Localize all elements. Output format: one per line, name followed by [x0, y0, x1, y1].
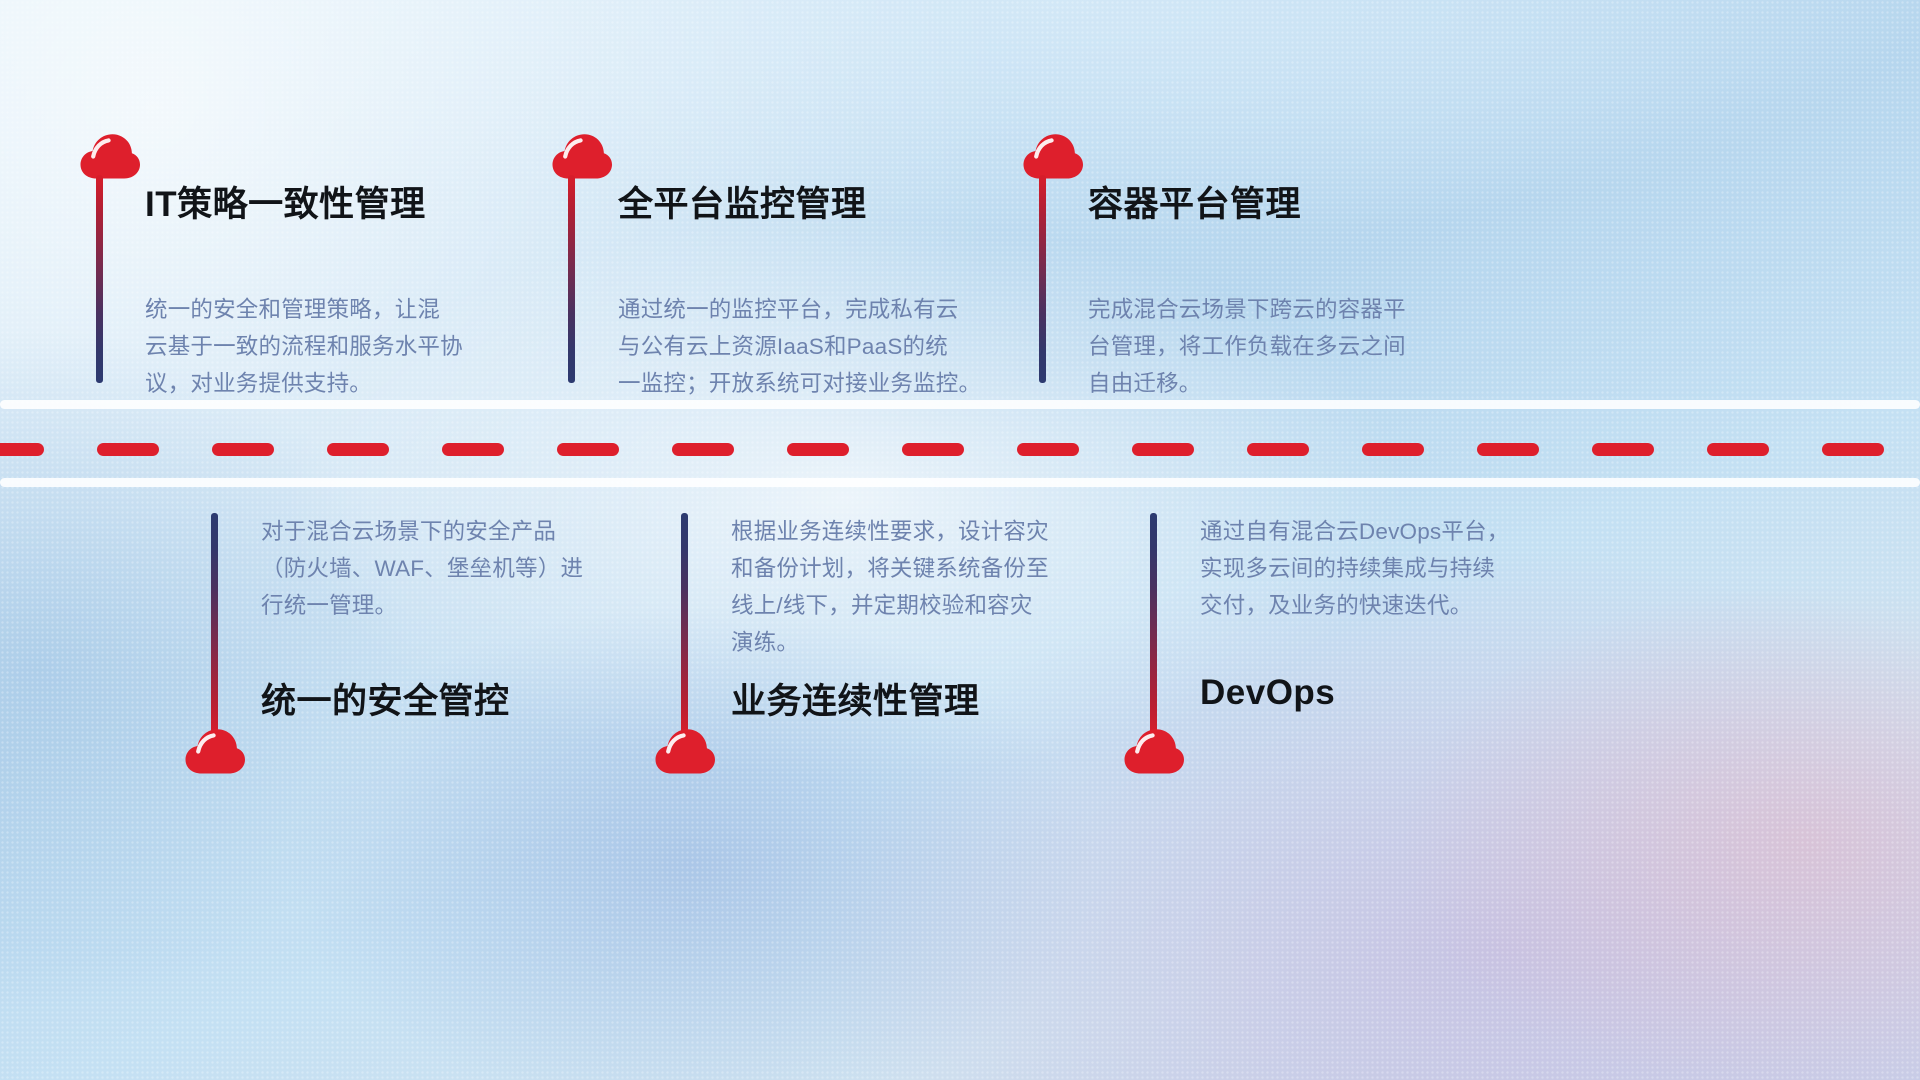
cloud-pin-icon: [654, 728, 716, 774]
road-dash-segment: [787, 443, 849, 456]
road-dash-segment: [672, 443, 734, 456]
feature-title: DevOps: [1200, 673, 1335, 713]
pin-stem: [1150, 513, 1157, 735]
feature-title: IT策略一致性管理: [145, 176, 426, 227]
cloud-pin-icon: [1022, 133, 1084, 179]
road-dash-segment: [1247, 443, 1309, 456]
road-dash-segment: [212, 443, 274, 456]
road-center-dashes: [0, 443, 1920, 456]
feature-title: 业务连续性管理: [731, 673, 980, 724]
cloud-pin-icon: [184, 728, 246, 774]
cloud-pin-icon: [551, 133, 613, 179]
feature-title: 全平台监控管理: [618, 176, 867, 227]
pin-stem: [211, 513, 218, 735]
pin-stem: [681, 513, 688, 735]
feature-description: 对于混合云场景下的安全产品 （防火墙、WAF、堡垒机等）进 行统一管理。: [261, 513, 621, 624]
road-dash-segment: [1592, 443, 1654, 456]
cloud-pin-icon: [1123, 728, 1185, 774]
pin-stem: [1039, 175, 1046, 383]
feature-title: 统一的安全管控: [261, 673, 510, 724]
road-dash-segment: [442, 443, 504, 456]
road-dash-segment: [557, 443, 619, 456]
feature-description: 根据业务连续性要求，设计容灾 和备份计划，将关键系统备份至 线上/线下，并定期校…: [731, 513, 1091, 661]
feature-description: 通过统一的监控平台，完成私有云 与公有云上资源IaaS和PaaS的统 一监控；开…: [618, 291, 1008, 402]
feature-description: 通过自有混合云DevOps平台， 实现多云间的持续集成与持续 交付，及业务的快速…: [1200, 513, 1560, 624]
cloud-pin-icon: [79, 133, 141, 179]
road-dash-segment: [1477, 443, 1539, 456]
road-dash-segment: [1707, 443, 1769, 456]
feature-title: 容器平台管理: [1088, 176, 1301, 227]
road-dash-segment: [327, 443, 389, 456]
pin-stem: [568, 175, 575, 383]
feature-description: 完成混合云场景下跨云的容器平 台管理，将工作负载在多云之间 自由迁移。: [1088, 291, 1458, 402]
road-line-lower: [0, 478, 1920, 487]
road-dash-segment: [902, 443, 964, 456]
road-dash-segment: [1132, 443, 1194, 456]
road-dash-segment: [1017, 443, 1079, 456]
pin-stem: [96, 175, 103, 383]
road-dash-segment: [1362, 443, 1424, 456]
road-dash-segment: [1822, 443, 1884, 456]
road-dash-segment: [97, 443, 159, 456]
feature-description: 统一的安全和管理策略，让混 云基于一致的流程和服务水平协 议，对业务提供支持。: [145, 291, 510, 402]
road-dash-segment: [0, 443, 44, 456]
